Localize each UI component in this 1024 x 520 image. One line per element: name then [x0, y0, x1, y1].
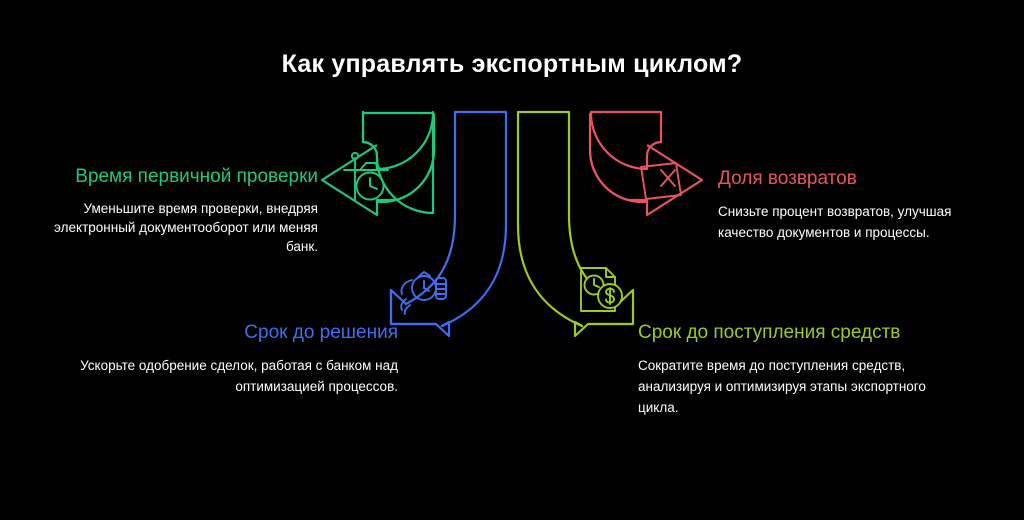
block-decision-time: Срок до решения Ускорьте одобрение сдело…	[74, 320, 398, 397]
block-funds-time-heading: Срок до поступления средств	[638, 320, 928, 345]
block-primary-check-description: Уменьшите время проверки, внедряя электр…	[34, 199, 318, 256]
arrow-decision-time-head-outline	[391, 290, 436, 324]
arrow-primary-check-outline	[377, 114, 434, 202]
document-rejected-x-icon	[641, 163, 681, 199]
block-funds-time-description: Сократите время до поступления средств, …	[638, 355, 928, 418]
arrow-funds-time-head	[575, 290, 633, 336]
arrow-decision-time-left-edge	[406, 112, 455, 304]
arrow-funds-time-right-edge	[569, 112, 618, 304]
arrow-return-rate	[590, 112, 702, 215]
block-return-rate-heading: Доля возвратов	[718, 166, 1006, 191]
arrow-primary-check	[322, 112, 434, 215]
arrow-return-rate-head	[590, 145, 702, 215]
block-primary-check-heading: Время первичной проверки	[34, 164, 318, 189]
hand-holding-stopwatch-icon	[401, 272, 446, 314]
clock-on-post-icon	[344, 153, 388, 200]
arrow-primary-check-body	[363, 112, 433, 169]
arrow-primary-check-shape	[363, 112, 433, 213]
block-return-rate: Доля возвратов Снизьте процент возвратов…	[718, 166, 1006, 243]
arrow-funds-time-left-edge	[518, 112, 582, 326]
arrow-return-rate-outline	[590, 114, 647, 202]
block-funds-time: Срок до поступления средств Сократите вр…	[638, 320, 928, 418]
block-decision-time-description: Ускорьте одобрение сделок, работая с бан…	[74, 355, 398, 397]
arrow-decision-time-right-edge	[442, 112, 506, 326]
block-primary-check: Время первичной проверки Уменьшите время…	[34, 164, 318, 256]
arrow-funds-time	[518, 112, 633, 336]
arrow-primary-check-head	[322, 145, 434, 215]
page-title: Как управлять экспортным циклом?	[0, 50, 1024, 79]
block-return-rate-description: Снизьте процент возвратов, улучшая качес…	[718, 201, 1006, 243]
document-clock-money-icon	[581, 268, 622, 311]
arrow-decision-time	[391, 112, 506, 336]
arrow-return-rate-body	[591, 112, 661, 169]
block-decision-time-heading: Срок до решения	[74, 320, 398, 345]
arrow-decision-time-head	[391, 290, 449, 336]
